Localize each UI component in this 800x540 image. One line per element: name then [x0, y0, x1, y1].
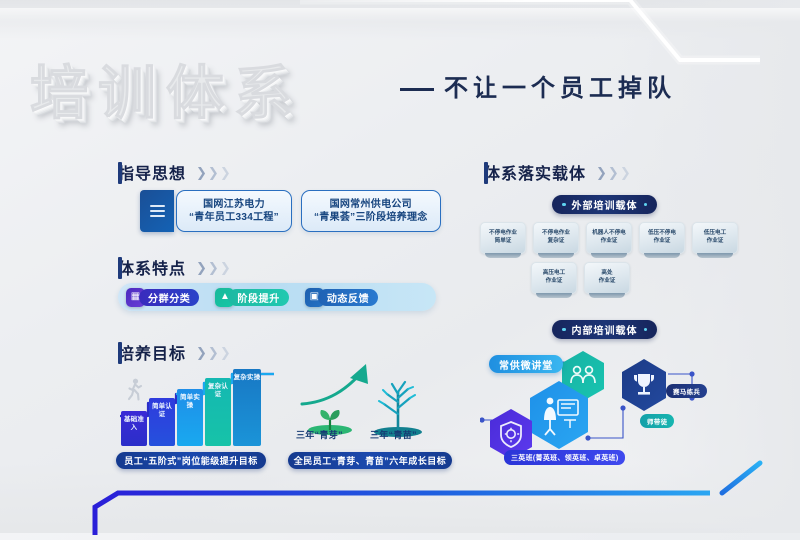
pill-external-training[interactable]: 外部培训载体 — [552, 195, 657, 214]
heading-accent-bar — [484, 162, 488, 184]
guiding-ideology-group: 国网江苏电力 “青年员工334工程” 国网常州供电公司 “青果荟”三阶段培养理念 — [140, 190, 441, 232]
dot-right-icon — [644, 328, 648, 332]
dot-left-icon — [562, 328, 566, 332]
feature-pill-bar: ▦ 分群分类 ▲ 阶段提升 ▣ 动态反馈 — [118, 283, 436, 311]
cert-card[interactable]: 机器人不停电作业证 — [586, 222, 632, 254]
hex-label-mentorship[interactable]: 师带徒 — [640, 414, 674, 428]
section-heading-guiding: 指导思想 ❯❯❯ — [118, 160, 231, 184]
running-person-icon — [126, 378, 144, 402]
subtitle-dash — [400, 88, 434, 91]
stair-bar-1-label: 基础准入 — [121, 416, 147, 432]
page-subtitle: 不让一个员工掉队 — [400, 68, 676, 103]
feature-item-stage[interactable]: ▲ 阶段提升 — [215, 288, 288, 307]
feature-item-feedback[interactable]: ▣ 动态反馈 — [305, 288, 378, 307]
stair-bar-5-label: 复杂实操 — [234, 374, 261, 382]
guiding-box-1-line2: “青年员工334工程” — [189, 211, 279, 225]
cert-line2: 作业证 — [704, 238, 726, 246]
stair-bar-5: 复杂实操 — [233, 369, 261, 446]
cert-line1: 高压电工 — [543, 270, 565, 278]
feature-label-grouping: 分群分类 — [139, 289, 199, 306]
cert-line1: 机器人不停电 — [592, 230, 626, 238]
feature-label-feedback: 动态反馈 — [318, 289, 378, 306]
caption-stairs: 员工“五阶式”岗位能级提升目标 — [116, 452, 266, 469]
hex-label-three-elite-classes[interactable]: 三英班(菁英班、领英班、卓英班) — [504, 450, 625, 465]
cert-line1: 不停电作业 — [489, 230, 517, 238]
heading-text: 体系特点 — [118, 255, 186, 279]
cert-card[interactable]: 低压电工作业证 — [692, 222, 738, 254]
stair-bar-2: 简单认证 — [149, 398, 175, 446]
stair-bar-4-label: 复杂认证 — [205, 383, 231, 399]
section-heading-carriers: 体系落实载体 ❯❯❯ — [484, 160, 631, 184]
guiding-box-2[interactable]: 国网常州供电公司 “青果荟”三阶段培养理念 — [301, 190, 441, 232]
pill-internal-label: 内部培训载体 — [572, 322, 638, 337]
cert-row-1: 不停电作业简单证 不停电作业复杂证 机器人不停电作业证 低压不停电作业证 低压电… — [480, 222, 738, 254]
cert-line2: 简单证 — [489, 238, 517, 246]
heading-accent-bar — [118, 162, 122, 184]
guiding-box-2-line1: 国网常州供电公司 — [314, 198, 428, 212]
cert-card[interactable]: 低压不停电作业证 — [639, 222, 685, 254]
stair-bar-3-label: 简单实操 — [177, 394, 203, 410]
cert-line2: 复杂证 — [542, 238, 570, 246]
stairs-chart: 基础准入 简单认证 简单实操 复杂认证 复杂实操 — [118, 366, 278, 446]
label-micro-lecture-hall[interactable]: 常供微讲堂 — [489, 355, 563, 373]
cert-line2: 作业证 — [592, 238, 626, 246]
section-heading-features: 体系特点 ❯❯❯ — [118, 255, 231, 279]
pill-external-label: 外部培训载体 — [572, 197, 638, 212]
chevron-right-icon: ❯❯❯ — [596, 166, 631, 179]
growth-illustration: 三年“青芽” 三年“青苗” — [288, 358, 448, 446]
cert-line1: 高处 — [599, 270, 616, 278]
ceiling-highlight — [0, 8, 800, 22]
heading-text: 培养目标 — [118, 340, 186, 364]
cert-line1: 低压不停电 — [648, 230, 676, 238]
plant-label-sprout: 三年“青芽” — [296, 428, 343, 441]
stair-bar-2-label: 简单认证 — [149, 403, 175, 419]
hex-trophy[interactable] — [620, 358, 668, 412]
feature-label-stage: 阶段提升 — [228, 289, 288, 306]
cert-row-2: 高压电工作业证 高处作业证 — [531, 262, 630, 294]
cert-line2: 作业证 — [543, 278, 565, 286]
chevron-right-icon: ❯❯❯ — [196, 166, 231, 179]
cert-line2: 作业证 — [599, 278, 616, 286]
stair-bar-1: 基础准入 — [121, 411, 147, 446]
heading-text: 指导思想 — [118, 160, 186, 184]
pill-internal-training[interactable]: 内部培训载体 — [552, 320, 657, 339]
chevron-right-icon: ❯❯❯ — [196, 346, 231, 359]
guiding-box-1-line1: 国网江苏电力 — [189, 198, 279, 212]
hex-label-race-training[interactable]: 赛马练兵 — [666, 384, 707, 398]
cert-card[interactable]: 高压电工作业证 — [531, 262, 577, 294]
cert-card[interactable]: 不停电作业复杂证 — [533, 222, 579, 254]
chevron-right-icon: ❯❯❯ — [196, 261, 231, 274]
heading-accent-bar — [118, 257, 122, 279]
cert-line1: 低压电工 — [704, 230, 726, 238]
guiding-box-2-line2: “青果荟”三阶段培养理念 — [314, 211, 428, 225]
cert-card[interactable]: 高处作业证 — [584, 262, 630, 294]
cert-line1: 不停电作业 — [542, 230, 570, 238]
hex-presenter[interactable] — [528, 380, 590, 450]
guiding-box-2-text: 国网常州供电公司 “青果荟”三阶段培养理念 — [314, 198, 428, 225]
caption-plants: 全民员工“青芽、青苗”六年成长目标 — [288, 452, 452, 469]
page-title: 培训体系 — [30, 46, 302, 130]
dot-left-icon — [562, 203, 566, 207]
subtitle-text: 不让一个员工掉队 — [444, 75, 676, 102]
guiding-box-1[interactable]: 国网江苏电力 “青年员工334工程” — [176, 190, 292, 232]
list-lines-icon — [140, 190, 174, 232]
heading-accent-bar — [118, 342, 122, 364]
cert-card[interactable]: 不停电作业简单证 — [480, 222, 526, 254]
plant-label-sapling: 三年“青苗” — [370, 428, 417, 441]
heading-text: 体系落实载体 — [484, 160, 586, 184]
guiding-box-1-text: 国网江苏电力 “青年员工334工程” — [189, 198, 279, 225]
feature-item-grouping[interactable]: ▦ 分群分类 — [126, 288, 199, 307]
stair-bar-3: 简单实操 — [177, 389, 203, 446]
cert-line2: 作业证 — [648, 238, 676, 246]
stair-bar-4: 复杂认证 — [205, 378, 231, 446]
section-heading-goals: 培养目标 ❯❯❯ — [118, 340, 231, 364]
dot-right-icon — [644, 203, 648, 207]
